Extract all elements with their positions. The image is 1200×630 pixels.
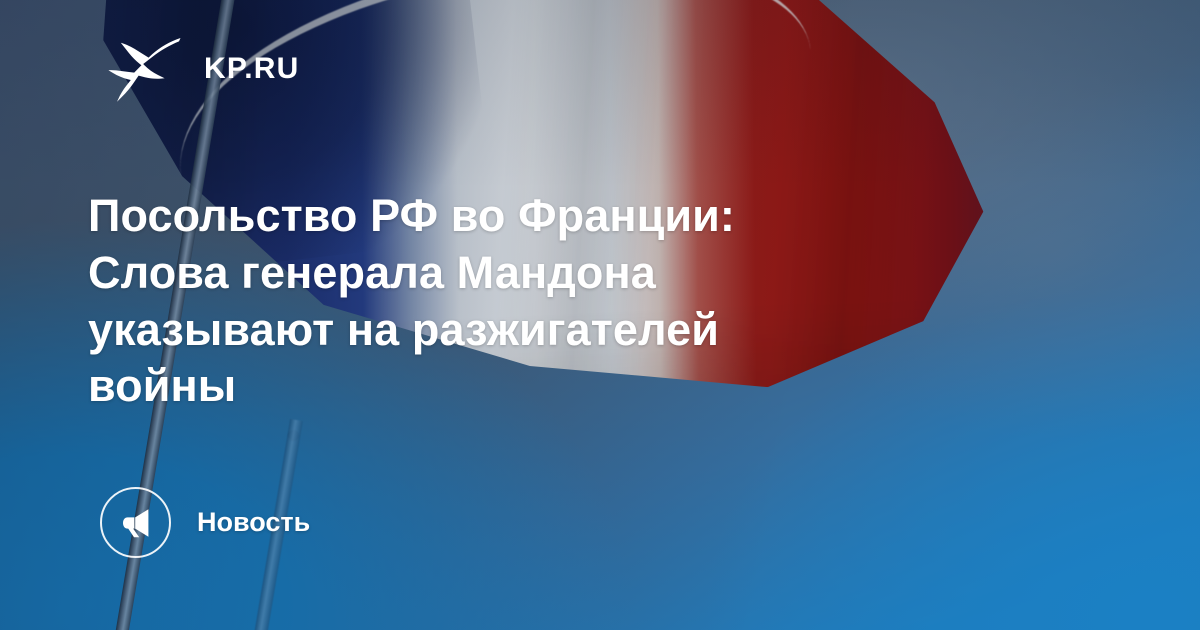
headline-line-3: указывают на разжигателей [88, 302, 928, 359]
page-title: Посольство РФ во Франции: Слова генерала… [88, 188, 928, 415]
headline-line-4: войны [88, 358, 928, 415]
megaphone-icon [119, 506, 153, 540]
social-share-card: KP.RU Посольство РФ во Франции: Слова ге… [0, 0, 1200, 630]
headline-line-1: Посольство РФ во Франции: [88, 188, 928, 245]
brand-lockup[interactable]: KP.RU [108, 36, 299, 102]
tag-badge-circle [100, 487, 171, 558]
content-type-tag[interactable]: Новость [100, 487, 310, 558]
swallow-bird-icon [108, 36, 182, 102]
card-content: KP.RU Посольство РФ во Франции: Слова ге… [0, 0, 1200, 630]
headline-line-2: Слова генерала Мандона [88, 245, 928, 302]
tag-label: Новость [197, 509, 310, 536]
brand-name: KP.RU [204, 54, 299, 84]
